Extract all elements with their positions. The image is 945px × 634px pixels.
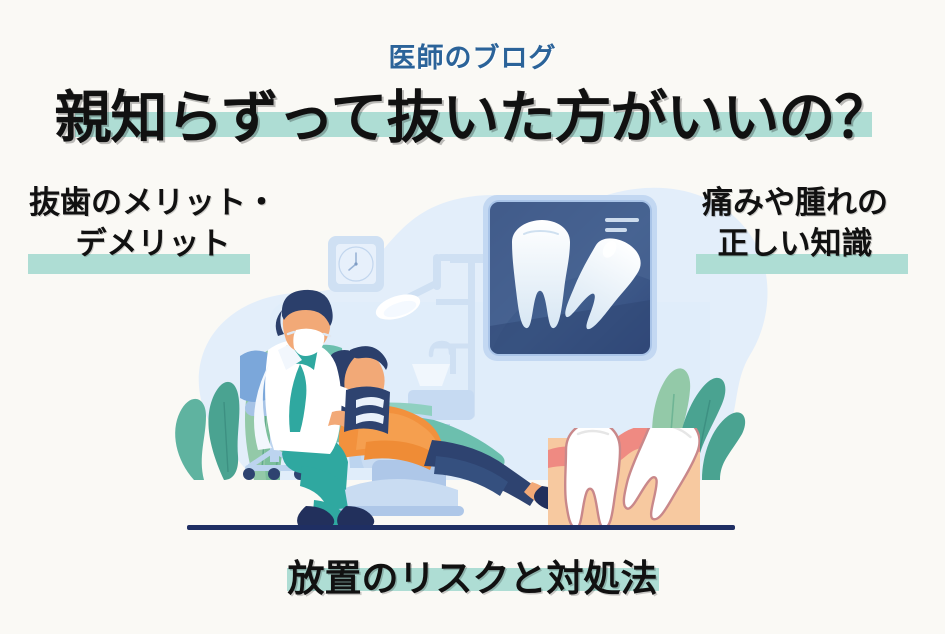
left-caption: 抜歯のメリット・ デメリット bbox=[18, 183, 288, 265]
left-caption-line2: デメリット bbox=[18, 224, 288, 265]
wall-clock-icon bbox=[328, 236, 384, 292]
page-title: 親知らずって抜いた方がいいの？ bbox=[0, 72, 945, 154]
poster-canvas: 医師のブログ 親知らずって抜いた方がいいの？ bbox=[0, 0, 945, 634]
title-block: 親知らずって抜いた方がいいの？ bbox=[0, 72, 945, 142]
right-caption-line2: 正しい知識 bbox=[660, 224, 930, 265]
right-caption: 痛みや腫れの 正しい知識 bbox=[660, 183, 930, 265]
bottom-caption: 放置のリスクと対処法 bbox=[0, 548, 945, 602]
clipboard bbox=[344, 386, 390, 434]
eyebrow-label: 医師のブログ bbox=[0, 36, 945, 75]
baseline-rule bbox=[187, 525, 735, 530]
right-caption-line1: 痛みや腫れの bbox=[660, 183, 930, 224]
left-caption-line1: 抜歯のメリット・ bbox=[18, 183, 288, 224]
